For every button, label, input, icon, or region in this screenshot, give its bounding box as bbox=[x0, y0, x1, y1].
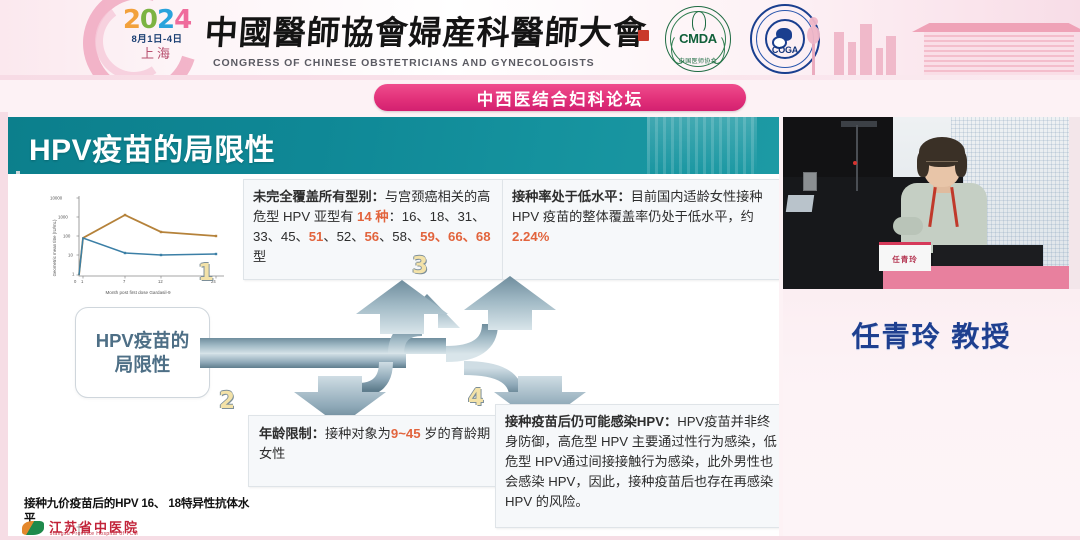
slide-title-bar: HPV疫苗的局限性 bbox=[8, 117, 779, 174]
slide-title: HPV疫苗的局限性 bbox=[29, 125, 275, 169]
limitation-box-3: 接种率处于低水平：目前国内适龄女性接种 HPV 疫苗的整体覆盖率仍处于低水平，约… bbox=[502, 179, 779, 280]
box1-highlight-56: 56 bbox=[364, 229, 379, 244]
speaker-glasses-icon bbox=[926, 161, 958, 169]
speaker-name-title: 任青玲 教授 bbox=[852, 315, 1012, 355]
box1-body-part4: 、58、 bbox=[379, 229, 420, 244]
box2-body-part1: 接种对象为 bbox=[325, 426, 391, 441]
congress-title-chinese: 中國醫師協會婦産科醫師大會 bbox=[203, 6, 651, 54]
chart1-ytick-100: 100 bbox=[63, 234, 71, 239]
event-dates: 8月1日-4日 bbox=[113, 35, 201, 45]
speaker-nameplate: 任青玲 bbox=[879, 242, 931, 271]
hospital-leaf-icon bbox=[22, 521, 44, 535]
congress-title-english: CONGRESS OF CHINESE OBSTETRICIANS AND GY… bbox=[213, 57, 643, 69]
conference-header-banner: 2024 8月1日-4日 上海 中國醫師協會婦産科醫師大會 CONGRESS O… bbox=[0, 0, 1080, 80]
shanghai-skyline-decoration bbox=[790, 0, 1080, 80]
wall-panel bbox=[803, 172, 817, 191]
video-right-edge bbox=[1069, 117, 1080, 289]
box2-heading: 年龄限制： bbox=[259, 426, 325, 441]
center-node-line1: HPV疫苗的 bbox=[96, 329, 190, 353]
limitation-box-4: 接种疫苗后仍可能感染HPV：HPV疫苗并非终身防御，高危型 HPV 主要通过性行… bbox=[495, 404, 779, 528]
chart1-ytick-1: 1 bbox=[72, 272, 75, 277]
arrow-number-3: 3 bbox=[412, 253, 428, 279]
limitation-box-2: 年龄限制：接种对象为9~45 岁的育龄期女性 bbox=[248, 415, 512, 487]
screen-root: 2024 8月1日-4日 上海 中國醫師協會婦産科醫師大會 CONGRESS O… bbox=[0, 0, 1080, 540]
slide-left-margin bbox=[0, 112, 8, 540]
red-indicator-light-icon bbox=[853, 161, 857, 165]
box1-highlight-count: 14 种 bbox=[357, 209, 389, 224]
chart1-xtick-1: 1 bbox=[81, 279, 84, 284]
box1-body-part5: 型 bbox=[253, 249, 266, 264]
overhead-screen-strip bbox=[841, 121, 877, 127]
cmda-logo-icon: CMDA 中国医师协会 bbox=[665, 6, 731, 72]
arrow-number-2: 2 bbox=[219, 388, 235, 414]
hospital-logo: 江苏省中医院 Jiangsu Province Hospital of TCM bbox=[22, 518, 182, 536]
box2-highlight-age: 9~45 bbox=[391, 426, 421, 441]
chart1-xtick-0: 0 bbox=[74, 279, 77, 284]
chart1-ytick-10000: 10000 bbox=[50, 196, 63, 201]
chart1-ytick-10: 10 bbox=[68, 253, 73, 258]
box4-heading: 接种疫苗后仍可能感染HPV： bbox=[505, 414, 677, 429]
box1-highlight-51: 51 bbox=[309, 229, 324, 244]
stage-pole bbox=[856, 125, 858, 191]
chart1-xlabel: Month post first dose Gardasil-9 bbox=[105, 290, 171, 295]
arrow-number-4: 4 bbox=[468, 385, 484, 411]
nameplate-text: 任青玲 bbox=[879, 254, 931, 265]
slide-bottom-margin bbox=[0, 536, 1080, 540]
chart1-xtick-12: 12 bbox=[158, 279, 163, 284]
event-year: 2024 bbox=[113, 7, 201, 33]
box3-highlight-rate: 2.24% bbox=[512, 229, 549, 244]
speaker-arm bbox=[893, 217, 923, 235]
limitation-box-1: 未完全覆盖所有型别：与宫颈癌相关的高危型 HPV 亚型有 14 种：16、18、… bbox=[243, 179, 513, 280]
cmda-abbr: CMDA bbox=[665, 31, 731, 46]
red-seal-icon bbox=[638, 30, 649, 41]
event-logo-block: 2024 8月1日-4日 上海 bbox=[113, 7, 201, 61]
box1-highlight-596668: 59、66、68 bbox=[420, 229, 490, 244]
speaker-video-feed[interactable]: 任青玲 bbox=[783, 117, 1080, 289]
arrow-number-1: 1 bbox=[198, 260, 214, 286]
event-city: 上海 bbox=[113, 48, 201, 61]
caduceus-icon bbox=[692, 11, 706, 33]
box3-heading: 接种率处于低水平： bbox=[512, 189, 631, 204]
slide-corner-tick bbox=[16, 171, 20, 174]
center-node-line2: 局限性 bbox=[115, 353, 171, 377]
speaker-name-panel: 任青玲 教授 bbox=[783, 289, 1080, 536]
box1-body-part3: 、52、 bbox=[323, 229, 364, 244]
cmda-label-cn: 中国医师协会 bbox=[665, 56, 731, 65]
laptop-screen bbox=[786, 195, 814, 212]
chart1-xtick-7: 7 bbox=[123, 279, 126, 284]
chart1-ytick-1000: 1000 bbox=[58, 215, 68, 220]
center-concept-node: HPV疫苗的 局限性 bbox=[75, 307, 210, 398]
forum-title-banner: 中西医结合妇科论坛 bbox=[374, 84, 746, 111]
box1-heading: 未完全覆盖所有型别： bbox=[253, 189, 385, 204]
presentation-slide: HPV疫苗的局限性 Geometric mean titre (IU/mL) 1… bbox=[8, 117, 779, 536]
expo-building-decoration bbox=[924, 29, 1074, 77]
hospital-name-en: Jiangsu Province Hospital of TCM bbox=[50, 531, 138, 536]
chart1-ylabel: Geometric mean titre (IU/mL) bbox=[52, 219, 57, 276]
